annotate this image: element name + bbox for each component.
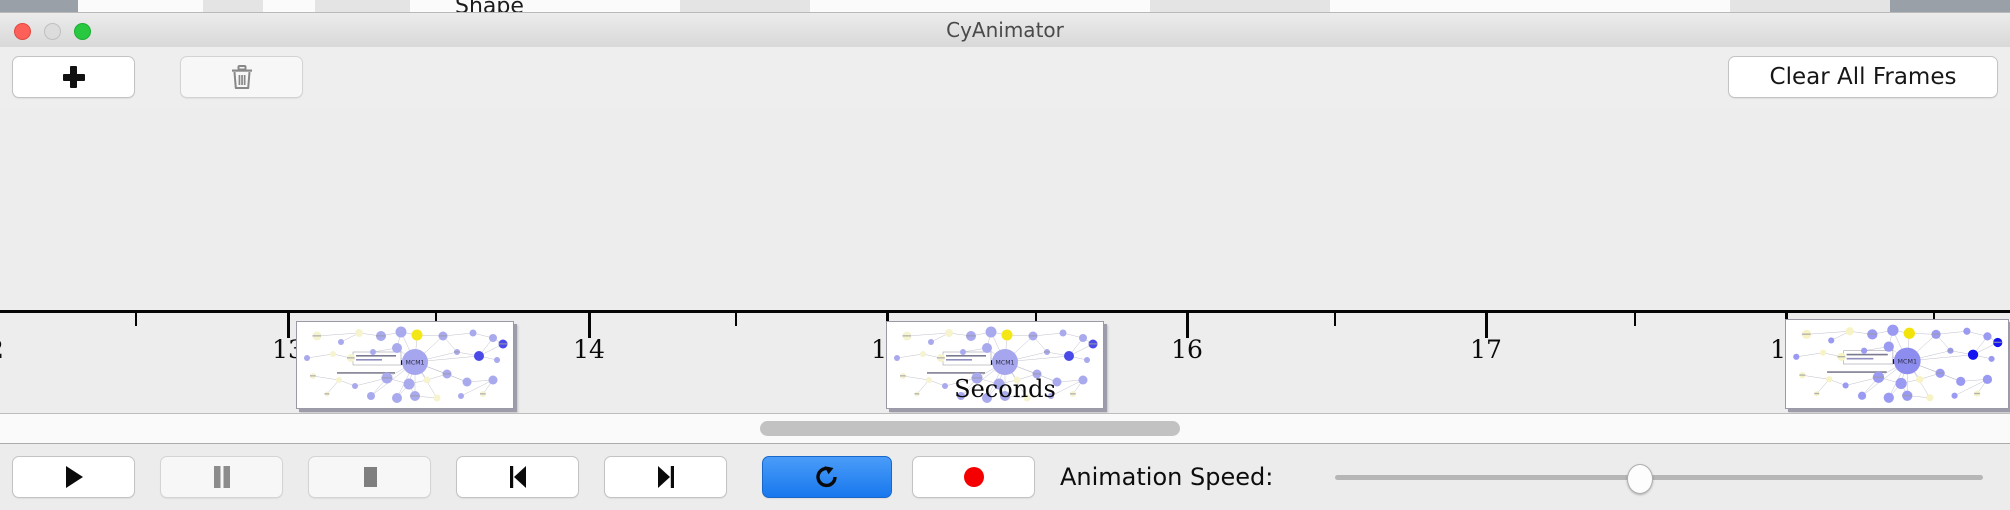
scrollbar-thumb[interactable] bbox=[760, 421, 1180, 436]
frame-toolbar: Clear All Frames bbox=[0, 47, 2010, 110]
stop-icon bbox=[358, 464, 382, 490]
slider-track bbox=[1335, 475, 1983, 480]
play-icon bbox=[62, 464, 86, 490]
record-button[interactable] bbox=[912, 456, 1035, 498]
pause-button[interactable] bbox=[160, 456, 283, 498]
timeline-tick bbox=[735, 313, 737, 326]
timeline-axis bbox=[0, 310, 2010, 313]
timeline-tick-label: 12 bbox=[0, 335, 4, 364]
play-button[interactable] bbox=[12, 456, 135, 498]
timeline-tick-label: 16 bbox=[1171, 335, 1203, 364]
title-bar: CyAnimator bbox=[0, 13, 2010, 48]
loop-icon bbox=[814, 463, 840, 491]
timeline-panel[interactable]: 12131415161718 MCM1MCM1MCM1 Seconds bbox=[0, 109, 2010, 414]
timeline-scrollbar[interactable] bbox=[0, 414, 2010, 444]
svg-text:MCM1: MCM1 bbox=[406, 360, 425, 367]
axis-title: Seconds bbox=[0, 375, 2010, 403]
clear-all-frames-button[interactable]: Clear All Frames bbox=[1728, 56, 1998, 98]
skip-start-icon bbox=[506, 464, 530, 490]
timeline-tick bbox=[135, 313, 137, 326]
loop-button[interactable] bbox=[762, 456, 892, 498]
trash-icon bbox=[229, 63, 255, 91]
animation-speed-label: Animation Speed: bbox=[1060, 456, 1273, 498]
skip-end-icon bbox=[654, 464, 678, 490]
timeline-tick bbox=[1334, 313, 1336, 326]
add-frame-button[interactable] bbox=[12, 56, 135, 98]
record-icon bbox=[961, 464, 987, 490]
timeline-tick-label: 14 bbox=[573, 335, 605, 364]
svg-text:MCM1: MCM1 bbox=[1898, 359, 1917, 366]
skip-end-button[interactable] bbox=[604, 456, 727, 498]
cyanimator-window: Shape CyAnimator Clear All Frames bbox=[0, 0, 2010, 510]
slider-knob[interactable] bbox=[1627, 464, 1653, 494]
background-window-strip: Shape bbox=[0, 0, 2010, 13]
delete-frame-button[interactable] bbox=[180, 56, 303, 98]
playback-controls: Animation Speed: bbox=[0, 444, 2010, 510]
animation-speed-slider[interactable] bbox=[1335, 456, 1983, 498]
window-title: CyAnimator bbox=[0, 13, 2010, 47]
plus-icon bbox=[63, 66, 85, 88]
svg-text:MCM1: MCM1 bbox=[996, 360, 1015, 367]
timeline-tick-label: 17 bbox=[1470, 335, 1502, 364]
skip-start-button[interactable] bbox=[456, 456, 579, 498]
pause-icon bbox=[210, 464, 234, 490]
timeline-tick bbox=[1634, 313, 1636, 326]
stop-button[interactable] bbox=[308, 456, 431, 498]
